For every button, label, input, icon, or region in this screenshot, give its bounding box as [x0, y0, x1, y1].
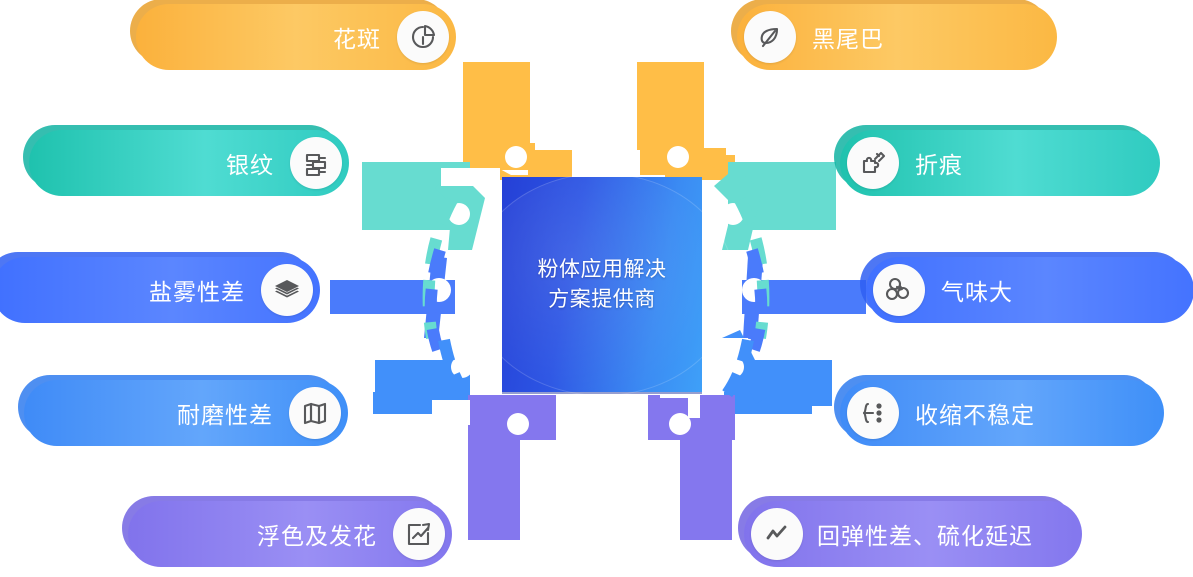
pill-body: 收缩不稳定 [840, 380, 1164, 446]
node-naimo[interactable]: 耐磨性差 [24, 380, 348, 446]
node-yanwu[interactable]: 盐雾性差 [0, 257, 320, 323]
node-yinwen[interactable]: 银纹 [29, 130, 349, 196]
node-zhehen[interactable]: 折痕 [840, 130, 1160, 196]
node-heiweiba[interactable]: 黑尾巴 [737, 4, 1057, 70]
node-label: 折痕 [915, 146, 963, 180]
node-label: 收缩不稳定 [915, 396, 1035, 430]
node-huitan[interactable]: 回弹性差、硫化延迟 [744, 501, 1082, 567]
pill-body: 折痕 [840, 130, 1160, 196]
node-label: 花斑 [333, 20, 381, 54]
node-label: 浮色及发花 [257, 517, 377, 551]
center-node[interactable]: 粉体应用解决 方案提供商 [502, 177, 702, 392]
pill-body: 盐雾性差 [0, 257, 320, 323]
pill-body: 银纹 [29, 130, 349, 196]
leaf-icon [744, 11, 796, 63]
pill-body: 浮色及发花 [128, 501, 452, 567]
node-label: 耐磨性差 [177, 396, 273, 430]
node-label: 黑尾巴 [812, 20, 884, 54]
pill-body: 耐磨性差 [24, 380, 348, 446]
node-huaban[interactable]: 花斑 [136, 4, 456, 70]
connector-fuse [432, 395, 556, 540]
puzzle-icon [847, 137, 899, 189]
connector-huitan [648, 395, 735, 540]
connector-yinwen [362, 162, 500, 250]
connector-heiweiba [637, 62, 737, 180]
trending-up-box-icon [393, 508, 445, 560]
pill-body: 黑尾巴 [737, 4, 1057, 70]
connector-huaban [463, 62, 572, 180]
pie-chart-icon [397, 11, 449, 63]
brick-wall-icon [290, 137, 342, 189]
recycle-icon [873, 264, 925, 316]
book-icon [289, 387, 341, 439]
pill-body: 花斑 [136, 4, 456, 70]
line-chart-icon [751, 508, 803, 560]
pill-body: 回弹性差、硫化延迟 [744, 501, 1082, 567]
node-shousuo[interactable]: 收缩不稳定 [840, 380, 1164, 446]
node-qiwei[interactable]: 气味大 [866, 257, 1193, 323]
node-label: 盐雾性差 [149, 273, 245, 307]
node-label: 气味大 [941, 273, 1013, 307]
node-label: 银纹 [226, 146, 274, 180]
diagram-canvas: 粉体应用解决 方案提供商 花斑 黑尾巴 [0, 0, 1193, 577]
pill-body: 气味大 [866, 257, 1193, 323]
connector-zhehen [714, 162, 836, 250]
node-label: 回弹性差、硫化延迟 [817, 517, 1033, 551]
center-label: 粉体应用解决 方案提供商 [502, 177, 702, 392]
layers-icon [261, 264, 313, 316]
node-fuse[interactable]: 浮色及发花 [128, 501, 452, 567]
sitemap-icon [847, 387, 899, 439]
